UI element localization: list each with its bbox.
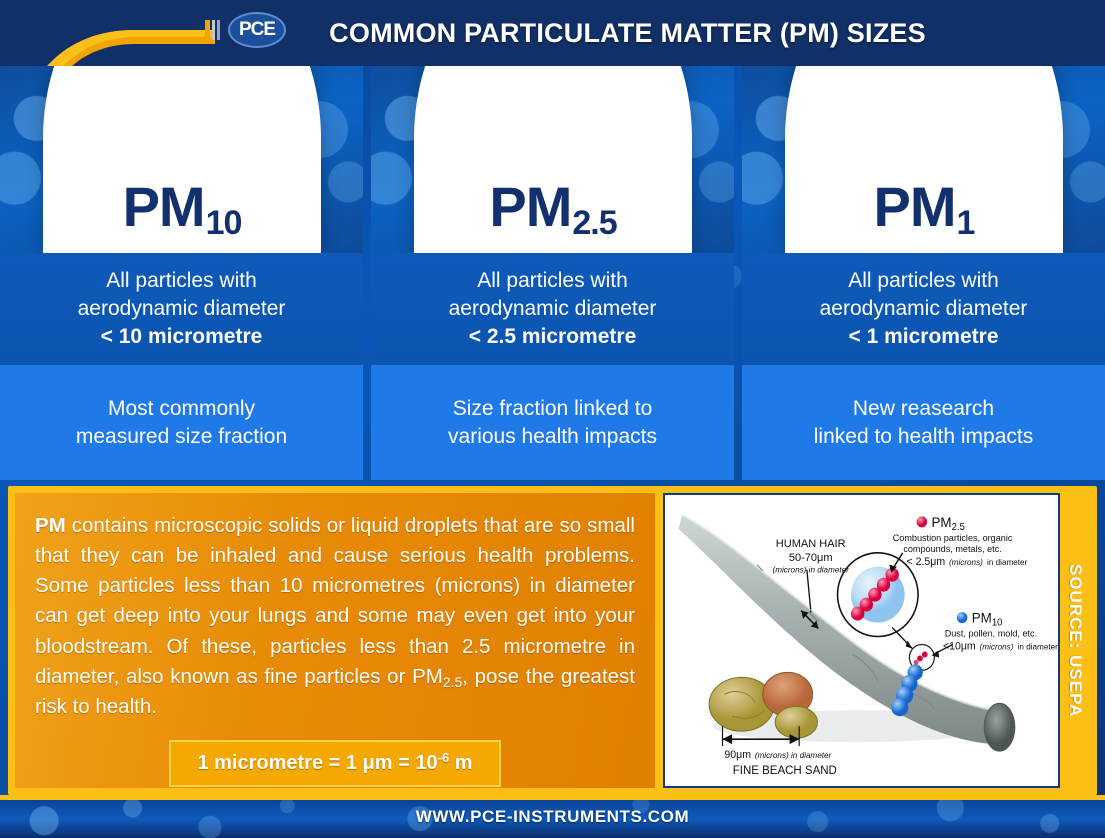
svg-text:< 2.5μm(microns) in diameter: < 2.5μm(microns) in diameter [907,556,1028,568]
infographic-root: PCE COMMON PARTICULATE MATTER (PM) SIZES… [0,0,1105,838]
info-lead: PM [35,514,66,537]
info-body: contains microscopic solids or liquid dr… [35,514,635,688]
footer-bar: WWW.PCE-INSTRUMENTS.COM [0,795,1105,838]
pm-dome: PM10 [43,66,321,253]
svg-text:50-70μm: 50-70μm [789,552,833,564]
pm-card-pm10: PM10 All particles with aerodynamic diam… [0,66,363,480]
pm-dome: PM2.5 [414,66,692,253]
pm-card-note: New reasearch linked to health impacts [742,365,1105,480]
desc-line-2: aerodynamic diameter [820,295,1028,323]
footer-url[interactable]: WWW.PCE-INSTRUMENTS.COM [0,795,1105,838]
pm-dome: PM1 [785,66,1063,253]
svg-text:Dust, pollen, mold, etc.: Dust, pollen, mold, etc. [945,628,1037,638]
pm-label-prefix: PM [489,175,571,238]
svg-text:HUMAN HAIR: HUMAN HAIR [776,538,846,550]
pm-card-pm25: PM2.5 All particles with aerodynamic dia… [371,66,734,480]
pm-cards-row: PM10 All particles with aerodynamic diam… [0,66,1105,480]
desc-line-2: aerodynamic diameter [449,295,657,323]
pm-label-prefix: PM [123,175,205,238]
info-panel-diagram-column: HUMAN HAIR 50-70μm (microns) in diameter… [663,493,1090,788]
pm-card-pm1: PM1 All particles with aerodynamic diame… [742,66,1105,480]
info-body-sub: 2.5 [443,674,462,690]
note-line-1: Size fraction linked to [453,395,653,423]
desc-line-3: < 2.5 micrometre [469,323,637,351]
note-line-2: measured size fraction [76,423,287,451]
info-panel-text-column: PM contains microscopic solids or liquid… [15,493,655,788]
source-label: SOURCE: USEPA [1060,493,1090,788]
pm-card-top: PM2.5 [371,66,734,253]
pm-card-description: All particles with aerodynamic diameter … [742,253,1105,365]
formula-suffix: m [449,752,472,774]
desc-line-1: All particles with [477,267,628,295]
formula-exponent: -6 [438,750,450,765]
pm-card-top: PM1 [742,66,1105,253]
svg-text:(microns) in diameter: (microns) in diameter [773,565,851,575]
header-bar: PCE COMMON PARTICULATE MATTER (PM) SIZES [0,0,1105,66]
pm-card-description: All particles with aerodynamic diameter … [371,253,734,365]
pm-label: PM1 [785,179,1063,235]
note-line-1: Most commonly [108,395,255,423]
usepa-diagram-svg: HUMAN HAIR 50-70μm (microns) in diameter… [665,495,1058,786]
pm-card-note: Most commonly measured size fraction [0,365,363,480]
desc-line-2: aerodynamic diameter [78,295,286,323]
info-paragraph: PM contains microscopic solids or liquid… [35,511,635,722]
pm-label-prefix: PM [874,175,956,238]
pm-label-sub: 2.5 [572,204,616,242]
pm-label: PM10 [43,179,321,235]
pm-label: PM2.5 [414,179,692,235]
svg-text:<10μm(microns) in diameter: <10μm(microns) in diameter [943,640,1058,652]
svg-text:90μm(microns) in diameter: 90μm(microns) in diameter [724,749,832,761]
pm-card-note: Size fraction linked to various health i… [371,365,734,480]
pm-card-top: PM10 [0,66,363,253]
info-panel: PM contains microscopic solids or liquid… [8,486,1097,795]
svg-text:compounds, metals, etc.: compounds, metals, etc. [903,544,1001,554]
desc-line-3: < 10 micrometre [101,323,263,351]
usepa-diagram: HUMAN HAIR 50-70μm (microns) in diameter… [663,493,1060,788]
page-title: COMMON PARTICULATE MATTER (PM) SIZES [0,0,1105,66]
note-line-2: various health impacts [448,423,657,451]
formula-box: 1 micrometre = 1 μm = 10-6 m [169,740,500,787]
pm-card-description: All particles with aerodynamic diameter … [0,253,363,365]
pm-label-sub: 10 [206,204,242,242]
note-line-1: New reasearch [853,395,994,423]
pm-label-sub: 1 [957,204,975,242]
note-line-2: linked to health impacts [814,423,1033,451]
desc-line-3: < 1 micrometre [849,323,999,351]
svg-text:FINE BEACH SAND: FINE BEACH SAND [733,764,837,777]
desc-line-1: All particles with [848,267,999,295]
formula-prefix: 1 micrometre = 1 μm = 10 [197,752,437,774]
svg-text:Combustion particles, organic: Combustion particles, organic [893,533,1013,543]
desc-line-1: All particles with [106,267,257,295]
